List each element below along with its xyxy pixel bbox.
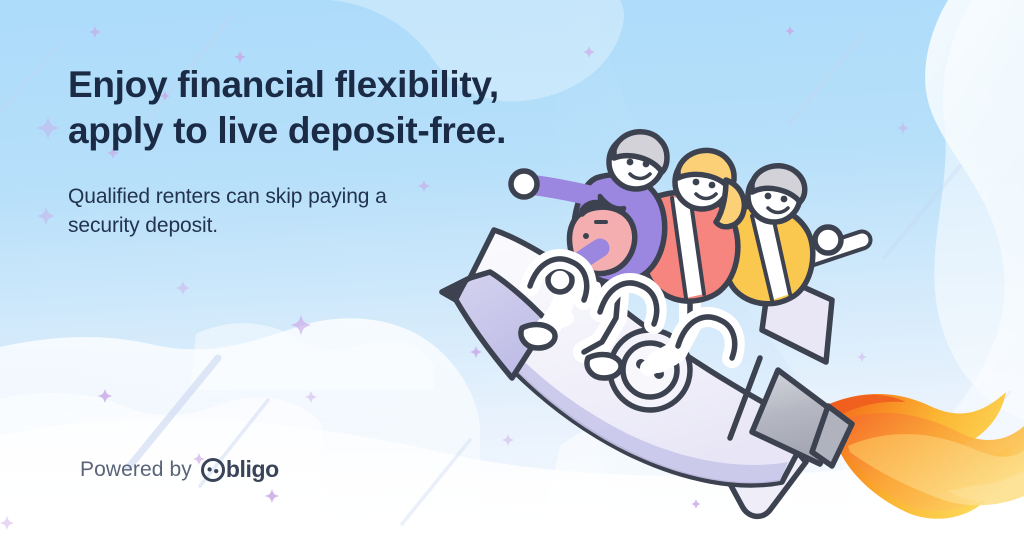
sparkle-icon xyxy=(305,391,317,403)
subtitle: Qualified renters can skip paying a secu… xyxy=(68,182,588,240)
sparkle-icon xyxy=(785,26,795,36)
sparkle-icon xyxy=(897,122,909,134)
obligo-logo[interactable]: bligo xyxy=(201,456,279,483)
sparkle-icon xyxy=(291,315,311,335)
sparkle-icon xyxy=(37,207,55,225)
sparkle-icon xyxy=(176,281,190,295)
sparkle-icon xyxy=(265,489,279,503)
powered-by-label: Powered by xyxy=(80,458,192,482)
obligo-mark-icon xyxy=(201,458,225,482)
promo-banner: Enjoy financial flexibility, apply to li… xyxy=(0,0,1024,536)
sparkle-icon xyxy=(857,352,867,362)
sparkle-icon xyxy=(938,480,950,492)
banner-copy: Enjoy financial flexibility, apply to li… xyxy=(68,62,588,240)
sparkle-icon xyxy=(470,346,482,358)
sparkle-icon xyxy=(98,389,112,403)
obligo-wordmark: bligo xyxy=(226,456,279,483)
sparkle-icon xyxy=(691,499,701,509)
sparkle-icon xyxy=(502,434,514,446)
powered-by-lockup: Powered by bligo xyxy=(80,456,279,483)
sparkle-icon xyxy=(89,26,101,38)
sparkle-icon xyxy=(0,516,14,530)
sparkle-icon xyxy=(583,46,595,58)
sparkle-icon xyxy=(37,117,59,139)
page-title: Enjoy financial flexibility, apply to li… xyxy=(68,62,588,154)
